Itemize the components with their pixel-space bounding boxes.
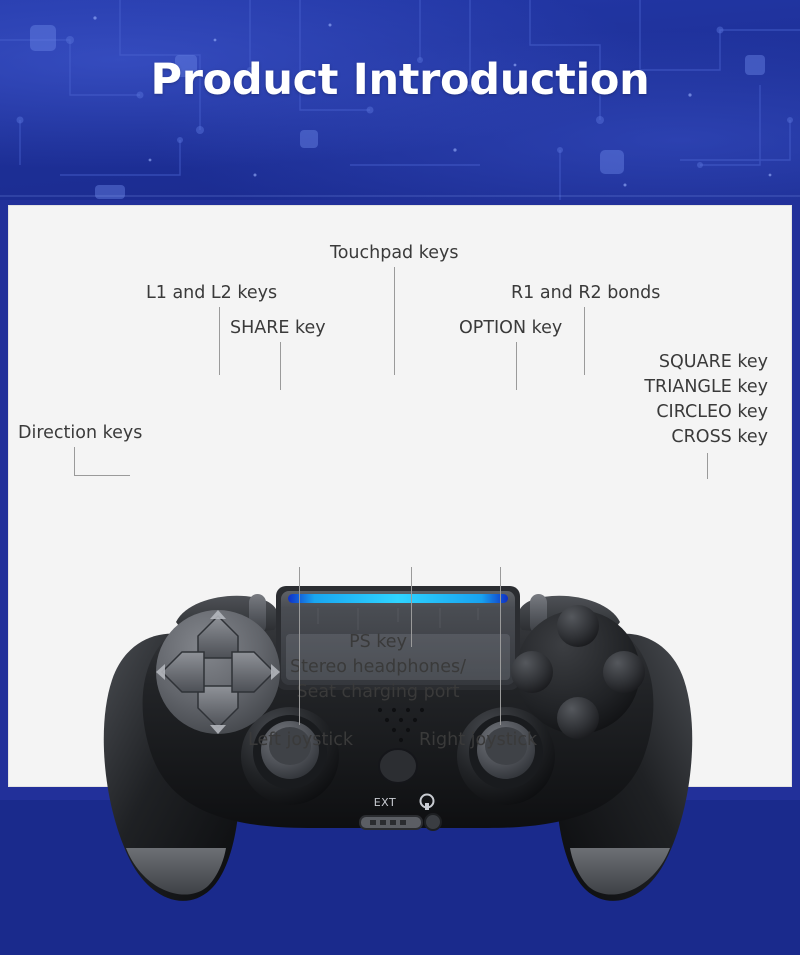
leader-direction-vertical xyxy=(74,447,75,475)
label-r1-r2-bonds: R1 and R2 bonds xyxy=(511,283,660,303)
label-face-buttons-stack: SQUARE key TRIANGLE key CIRCLEO key CROS… xyxy=(568,350,768,450)
label-right-joystick: Right joystick xyxy=(419,730,537,750)
headphone-jack-port xyxy=(425,814,441,830)
leader-direction-horizontal xyxy=(74,475,130,476)
leader-touchpad xyxy=(394,267,395,375)
label-square-key: SQUARE key xyxy=(568,350,768,375)
leader-option xyxy=(516,342,517,390)
label-option-key: OPTION key xyxy=(459,318,562,338)
leader-left-joystick xyxy=(299,567,300,725)
label-stereo-headphones: Stereo headphones/ xyxy=(238,655,518,680)
label-left-joystick: Left joystick xyxy=(248,730,353,750)
ps-button[interactable] xyxy=(379,749,417,783)
left-joystick[interactable] xyxy=(241,707,339,805)
header-banner: Product Introduction xyxy=(0,0,800,200)
product-introduction-page: Product Introduction xyxy=(0,0,800,800)
game-controller-illustration: EXT xyxy=(68,560,728,950)
leader-ps-key xyxy=(411,567,412,647)
right-joystick[interactable] xyxy=(457,707,555,805)
label-share-key: SHARE key xyxy=(230,318,326,338)
leader-right-joystick xyxy=(500,567,501,725)
leader-share xyxy=(280,342,281,390)
headphone-jack-icon-stem xyxy=(425,803,429,810)
content-panel: EXT xyxy=(8,205,792,787)
circle-button[interactable] xyxy=(603,651,645,693)
label-direction-keys: Direction keys xyxy=(18,423,142,443)
label-touchpad-keys: Touchpad keys xyxy=(330,243,458,263)
lightbar xyxy=(288,594,508,603)
label-ps-key: PS key xyxy=(238,630,518,655)
triangle-button[interactable] xyxy=(557,605,599,647)
leader-face-buttons xyxy=(707,453,708,479)
label-circle-key: CIRCLEO key xyxy=(568,400,768,425)
label-l1-l2-keys: L1 and L2 keys xyxy=(146,283,277,303)
cross-button[interactable] xyxy=(557,697,599,739)
label-triangle-key: TRIANGLE key xyxy=(568,375,768,400)
ext-port-label: EXT xyxy=(374,796,397,809)
label-center-bottom-block: PS key Stereo headphones/ Seat charging … xyxy=(238,630,518,705)
label-cross-key: CROSS key xyxy=(568,425,768,450)
leader-l1-l2 xyxy=(219,307,220,375)
page-title: Product Introduction xyxy=(0,55,800,105)
label-seat-charging-port: Seat charging port xyxy=(238,680,518,705)
